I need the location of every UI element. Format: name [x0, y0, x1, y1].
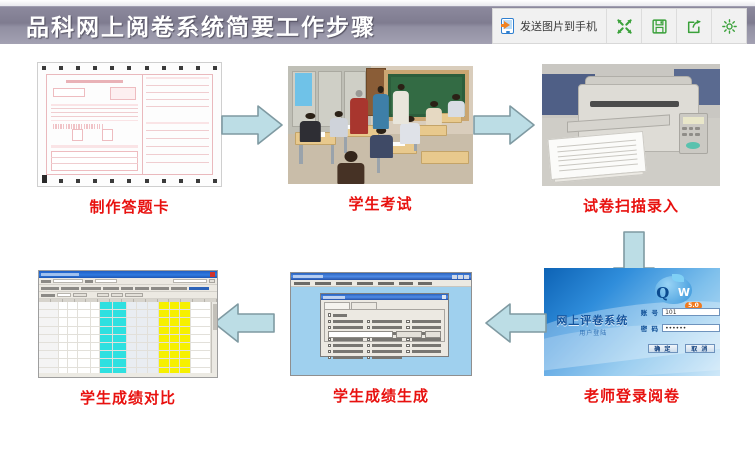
table-row[interactable]	[39, 351, 211, 359]
checkbox-item[interactable]	[328, 350, 363, 353]
student	[329, 111, 349, 137]
parent-window-menubar	[291, 280, 471, 287]
slide-root: 品科网上阅卷系统简要工作步骤 发送图片到手机	[0, 0, 755, 458]
path-input[interactable]	[328, 331, 394, 338]
teacher	[392, 84, 411, 124]
toolbar: 发送图片到手机	[492, 8, 747, 44]
modal-dialog	[320, 293, 450, 356]
step-2: 学生考试	[288, 66, 473, 214]
share-icon	[687, 19, 702, 34]
step-1-caption: 制作答题卡	[37, 196, 222, 217]
arrow-step1-to-step2	[220, 104, 284, 146]
send-to-phone-label: 发送图片到手机	[520, 18, 597, 34]
password-row: 密 码 ••••••	[641, 323, 720, 333]
account-row: 账 号 101	[641, 307, 720, 317]
table-row[interactable]	[39, 302, 211, 310]
settings-button[interactable]	[712, 9, 746, 43]
classroom-exam-image	[288, 66, 473, 184]
step-5-caption: 学生成绩生成	[290, 385, 472, 406]
account-input[interactable]: 101	[662, 308, 720, 316]
checkbox-item[interactable]	[367, 320, 402, 323]
checkbox-item[interactable]	[328, 320, 363, 323]
step-4-caption: 老师登录阅卷	[544, 385, 720, 406]
dialog-action-row	[328, 330, 442, 339]
account-label: 账 号	[641, 307, 659, 317]
table-row[interactable]	[39, 335, 211, 343]
checkbox-item[interactable]	[406, 350, 441, 353]
password-input[interactable]: ••••••	[662, 324, 720, 332]
step-2-caption: 学生考试	[288, 193, 473, 214]
checkbox-item[interactable]	[328, 344, 363, 347]
login-ok-button[interactable]: 确 定	[648, 344, 678, 353]
step-3: 试卷扫描录入	[542, 64, 720, 216]
step-3-caption: 试卷扫描录入	[542, 195, 720, 216]
close-icon[interactable]	[442, 295, 446, 299]
teacher	[349, 90, 369, 135]
login-screen-image: Q W 5.0 网上评卷系统 用户登陆 账 号 101 密 码 ••••••	[544, 268, 720, 376]
close-icon[interactable]	[210, 272, 215, 277]
fullscreen-button[interactable]	[607, 9, 642, 43]
vertical-scrollbar[interactable]	[211, 302, 217, 373]
workflow-diagram: 制作答题卡	[0, 44, 755, 458]
step-1: 制作答题卡	[37, 62, 222, 217]
teacher	[371, 86, 390, 128]
student	[447, 94, 466, 116]
student	[336, 151, 366, 184]
checkbox-item[interactable]	[367, 356, 402, 359]
tab-2[interactable]	[351, 302, 377, 309]
step-4: Q W 5.0 网上评卷系统 用户登陆 账 号 101 密 码 ••••••	[544, 268, 720, 406]
step-5: 学生成绩生成	[290, 272, 472, 406]
student	[299, 113, 321, 141]
table-body	[39, 302, 211, 373]
checkbox-item[interactable]	[367, 344, 402, 347]
answer-sheet-image	[37, 62, 222, 187]
save-button[interactable]	[642, 9, 677, 43]
table-row[interactable]	[39, 359, 211, 367]
login-subtitle: 用户登陆	[579, 328, 607, 337]
checkbox-select-all[interactable]	[328, 313, 442, 316]
dialog-tabs	[321, 300, 449, 309]
student	[369, 127, 393, 158]
checkbox-item[interactable]	[406, 320, 441, 323]
dialog-panel	[324, 309, 446, 341]
table-row[interactable]	[39, 327, 211, 335]
tab-1[interactable]	[324, 302, 350, 309]
scanner-image	[542, 64, 720, 186]
score-generation-dialog-image	[290, 272, 472, 376]
arrow-step5-to-step6	[212, 302, 276, 344]
checkbox-item[interactable]	[406, 344, 441, 347]
step-6: 学生成绩对比	[38, 270, 218, 408]
table-row[interactable]	[39, 310, 211, 318]
score-comparison-image	[38, 270, 218, 378]
toolbar-row-2	[39, 292, 217, 299]
share-button[interactable]	[677, 9, 712, 43]
checkbox-item[interactable]	[367, 350, 402, 353]
send-to-phone-button[interactable]: 发送图片到手机	[493, 9, 607, 43]
browse-button[interactable]	[396, 331, 422, 338]
parent-window-titlebar	[291, 273, 471, 280]
checkbox-item[interactable]	[328, 356, 363, 359]
save-icon	[652, 19, 667, 34]
phone-upload-icon	[500, 18, 515, 34]
password-label: 密 码	[641, 323, 659, 333]
spreadsheet-titlebar	[39, 271, 217, 278]
step-6-caption: 学生成绩对比	[38, 387, 218, 408]
fullscreen-icon	[617, 19, 632, 34]
arrow-step4-to-step5	[484, 302, 548, 344]
login-title: 网上评卷系统	[556, 312, 628, 328]
login-cancel-button[interactable]: 取 消	[685, 344, 715, 353]
page-title: 品科网上阅卷系统简要工作步骤	[26, 8, 376, 42]
arrow-step2-to-step3	[472, 104, 536, 146]
filter-row	[39, 278, 217, 285]
table-row[interactable]	[39, 318, 211, 326]
gear-icon	[722, 19, 737, 34]
toolbar-row-1	[39, 285, 217, 292]
student	[425, 101, 444, 125]
close-button[interactable]	[425, 331, 441, 338]
table-row[interactable]	[39, 368, 211, 374]
table-row[interactable]	[39, 343, 211, 351]
